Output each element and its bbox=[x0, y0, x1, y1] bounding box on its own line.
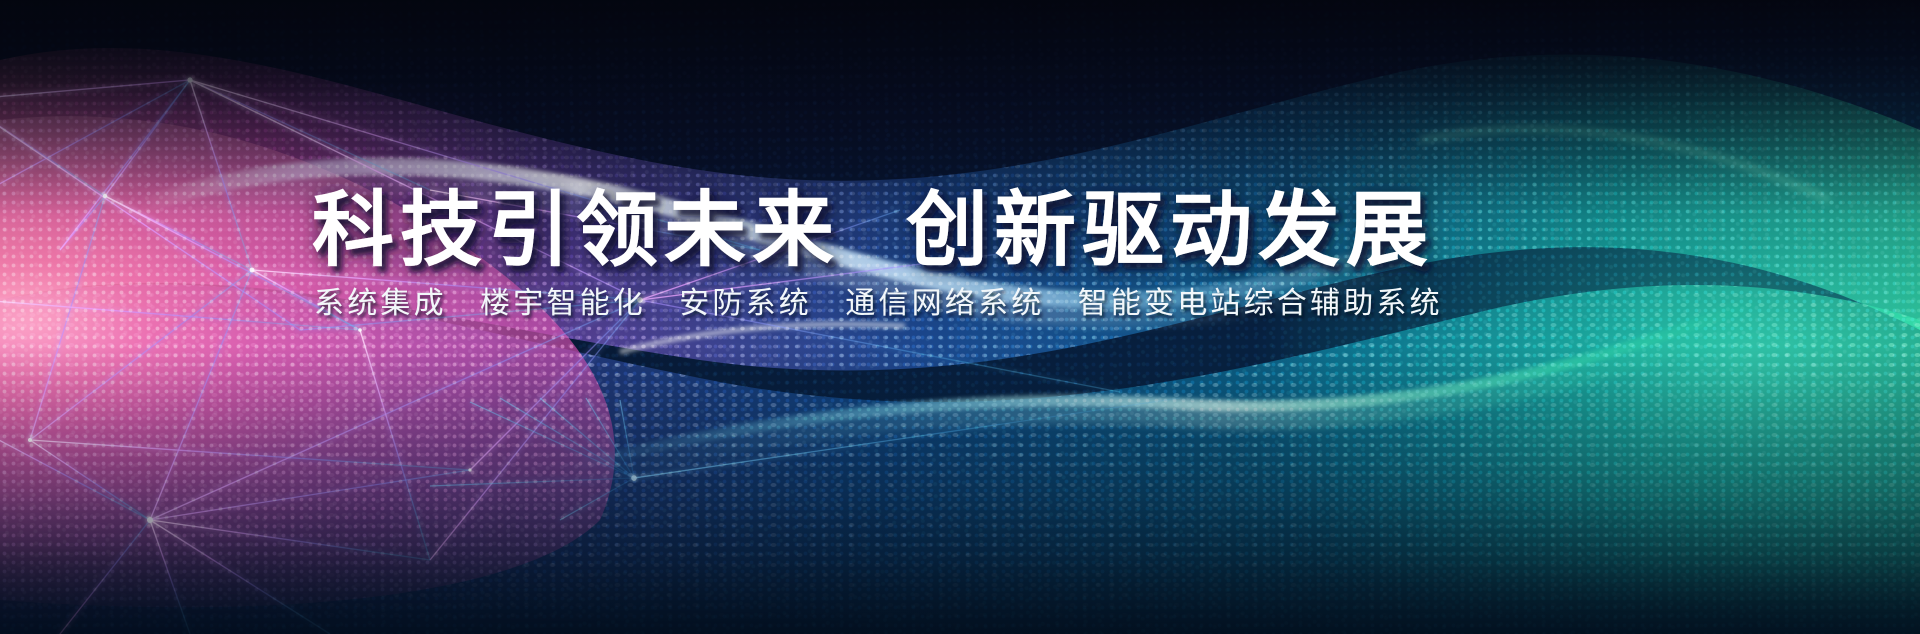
subtitle-line: 系统集成 楼宇智能化 安防系统 通信网络系统 智能变电站综合辅助系统 bbox=[314, 287, 1443, 320]
glow-magenta-left bbox=[0, 90, 500, 550]
halftone-overlay-coarse bbox=[0, 0, 1920, 634]
network-wireframe bbox=[0, 0, 1920, 634]
light-ribbons bbox=[0, 0, 1920, 634]
vignette-bottom bbox=[0, 0, 1920, 634]
banner-text-group: 科技引领未来创新驱动发展 系统集成 楼宇智能化 安防系统 通信网络系统 智能变电… bbox=[0, 0, 1920, 634]
hero-banner: 科技引领未来创新驱动发展 系统集成 楼宇智能化 安防系统 通信网络系统 智能变电… bbox=[0, 0, 1920, 634]
background-base-gradient bbox=[0, 0, 1920, 634]
headline-title: 科技引领未来创新驱动发展 bbox=[312, 185, 1434, 276]
dot-wave-field bbox=[0, 0, 1920, 634]
glow-teal-right bbox=[1280, 70, 1920, 590]
vignette-top bbox=[0, 0, 1920, 634]
halftone-overlay-fine bbox=[0, 0, 1920, 634]
headline-part-1: 科技引领未来 bbox=[312, 185, 840, 276]
headline-part-2: 创新驱动发展 bbox=[905, 185, 1434, 276]
